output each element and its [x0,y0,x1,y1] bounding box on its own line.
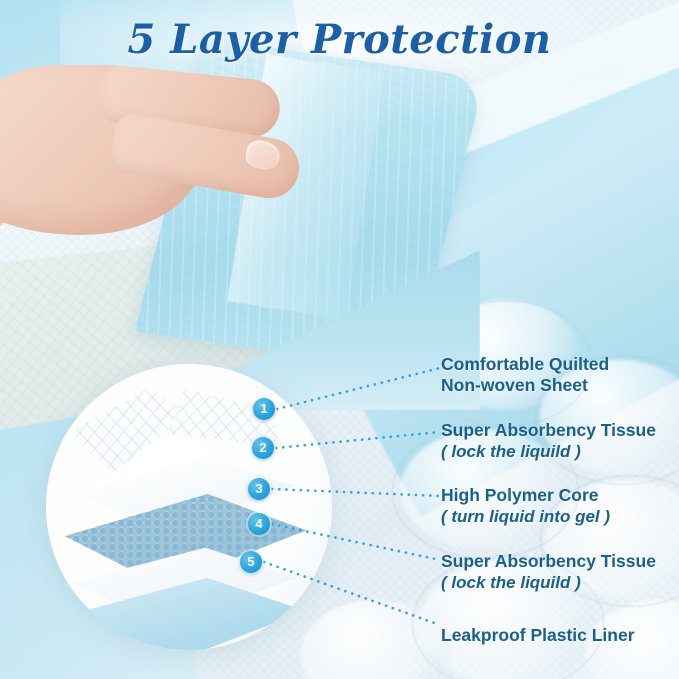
layer-badge-5: 5 [240,551,262,573]
layer-label-1-line1: Comfortable Quilted [441,354,609,375]
layer-label-4: Super Absorbency Tissue ( lock the liqui… [441,551,656,593]
layer-1-quilted-sheet-right [160,377,293,476]
page-title: 5 Layer Protection [0,16,679,63]
layer-badge-1: 1 [253,398,275,420]
layer-label-2-line1: Super Absorbency Tissue [441,420,656,441]
layer-stack-inset [46,364,332,650]
layer-label-3-line1: High Polymer Core [441,485,610,506]
layer-label-1-line2: Non-woven Sheet [441,375,609,396]
layer-label-3-sub: ( turn liquid into gel ) [441,506,610,527]
layer-label-4-line1: Super Absorbency Tissue [441,551,656,572]
layer-badge-4: 4 [248,513,270,535]
layer-label-2: Super Absorbency Tissue ( lock the liqui… [441,420,656,462]
layer-badge-3: 3 [248,478,270,500]
layer-badge-2: 2 [252,437,274,459]
layer-label-5-line1: Leakproof Plastic Liner [441,625,635,646]
product-infographic: 1 2 3 4 5 5 Layer Protection Comfortable… [0,0,679,679]
layer-label-3: High Polymer Core ( turn liquid into gel… [441,485,610,527]
hand-holding-pad [0,55,280,265]
layer-label-2-sub: ( lock the liquild ) [441,441,656,462]
layer-label-5: Leakproof Plastic Liner [441,625,635,646]
layer-label-4-sub: ( lock the liquild ) [441,572,656,593]
layer-label-1: Comfortable Quilted Non-woven Sheet [441,354,609,396]
